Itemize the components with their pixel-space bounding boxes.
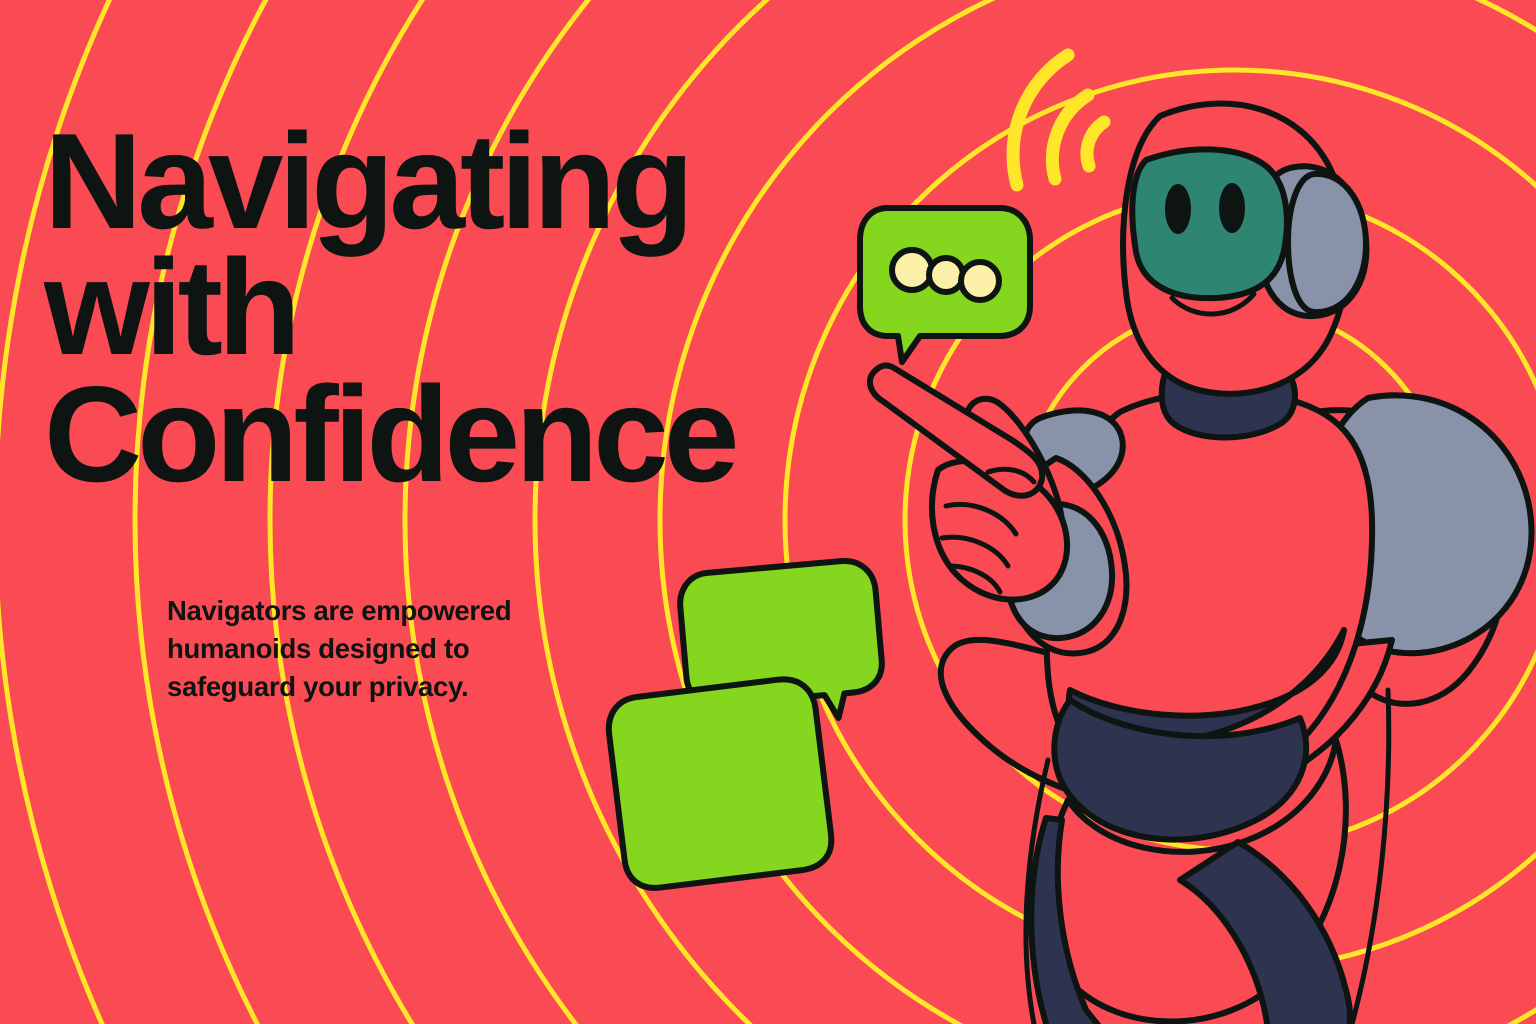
chat-bubble-lower [605, 676, 835, 892]
typing-dot-2 [929, 258, 963, 292]
poster-canvas: .ln { stroke:#0D1411; stroke-width:6; st… [0, 0, 1536, 1024]
eye-left [1165, 184, 1191, 234]
text-block: Navigating with Confidence [44, 118, 924, 497]
subcopy-text: Navigators are empowered humanoids desig… [167, 592, 587, 706]
visor [1132, 149, 1287, 298]
headphone-cup-inner [1288, 174, 1366, 312]
wifi-signal-arcs [1013, 55, 1104, 185]
wifi-arc-inner [1087, 122, 1104, 166]
chat-bubble-lower-shape [605, 676, 835, 892]
page-title: Navigating with Confidence [44, 118, 924, 497]
eye-right [1219, 183, 1245, 233]
body-contour-right [1352, 690, 1389, 1024]
typing-dot-3 [961, 262, 999, 300]
